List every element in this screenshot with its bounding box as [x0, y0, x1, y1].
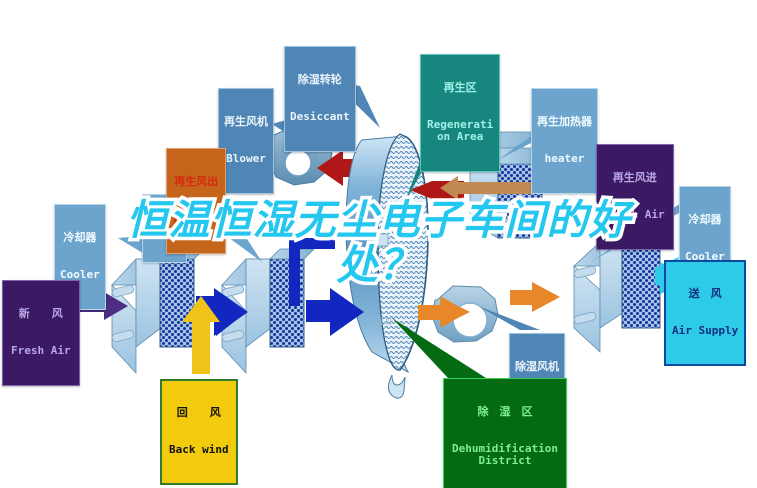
label-desiccant-wheel[interactable]: 除湿转轮 Desiccant: [284, 46, 356, 152]
label-regeneration-fresh-air-cn: 再生风进: [605, 172, 665, 184]
label-regeneration-heater-cn: 再生加热器: [537, 116, 592, 128]
label-cooler-right-cn: 冷却器: [685, 214, 725, 226]
label-dehumidification-district[interactable]: 除 湿 区 Dehumidification District: [443, 378, 567, 488]
label-dehumidification-district-cn: 除 湿 区: [452, 406, 558, 418]
label-regeneration-blower-en: Blower: [224, 153, 268, 165]
label-air-supply-en: Air Supply: [672, 325, 738, 337]
label-back-wind-en: Back wind: [169, 444, 229, 456]
label-regeneration-area[interactable]: 再生区 Regenerati on Area: [420, 54, 500, 172]
label-regeneration-exhaust-en: Exhaust: [173, 213, 219, 225]
label-regeneration-blower-cn: 再生风机: [224, 116, 268, 128]
label-back-wind-cn: 回 风: [169, 407, 229, 419]
label-regeneration-exhaust-cn: 再生风出: [173, 176, 219, 188]
label-regeneration-heater[interactable]: 再生加热器 heater: [531, 88, 598, 194]
label-regeneration-fresh-air-en: Fresh Air: [605, 209, 665, 221]
svg-text:XIN: XIN: [372, 315, 392, 328]
label-desiccant-wheel-en: Desiccant: [290, 111, 350, 123]
label-back-wind[interactable]: 回 风 Back wind: [160, 379, 238, 485]
label-regeneration-area-en: Regenerati on Area: [427, 119, 493, 144]
label-regeneration-exhaust[interactable]: 再生风出 Exhaust: [166, 148, 226, 254]
label-regeneration-fresh-air[interactable]: 再生风进 Fresh Air: [596, 144, 674, 250]
label-air-supply[interactable]: 送 风 Air Supply: [664, 260, 746, 366]
label-desiccant-wheel-cn: 除湿转轮: [290, 74, 350, 86]
label-regeneration-blower[interactable]: 再生风机 Blower: [218, 88, 274, 194]
label-regeneration-area-cn: 再生区: [427, 82, 493, 94]
label-regeneration-heater-en: heater: [537, 153, 592, 165]
label-dehumidification-blower-cn: 除湿风机: [515, 361, 559, 373]
label-fresh-air-inlet[interactable]: 新 风 Fresh Air: [2, 280, 80, 386]
supply-coil-graphic: [573, 232, 670, 352]
label-fresh-air-inlet-en: Fresh Air: [11, 345, 71, 357]
arrow-down-into-wheel: [289, 238, 335, 306]
label-air-supply-cn: 送 风: [672, 288, 738, 300]
arrow-to-blower: [510, 282, 560, 312]
label-cooler-left-cn: 冷却器: [60, 232, 100, 244]
label-fresh-air-inlet-cn: 新 风: [11, 308, 71, 320]
label-dehumidification-district-en: Dehumidification District: [452, 443, 558, 468]
diagram-canvas: XIN: [0, 0, 757, 488]
